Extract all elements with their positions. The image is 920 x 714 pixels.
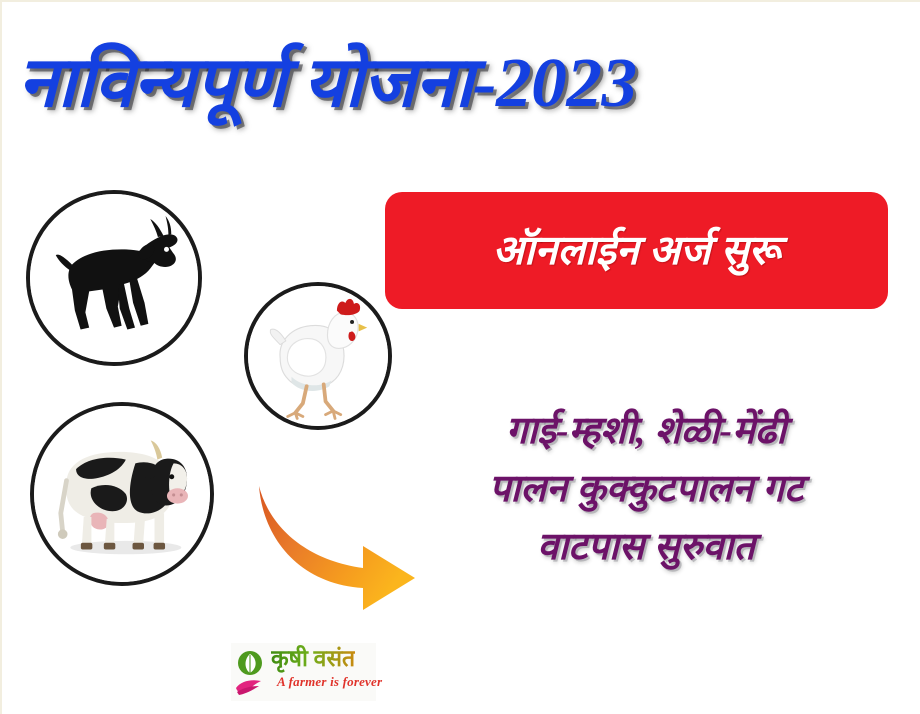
scheme-description-line-2: पालन कुक्कुटपालन गट xyxy=(388,460,904,518)
page-title: नाविन्यपूर्ण योजना-2023 xyxy=(18,36,920,132)
scheme-description-line-1: गाई-म्हशी, शेळी-मेंढी xyxy=(388,402,904,460)
brand-logo: कृषी वसंत A farmer is forever xyxy=(231,643,376,701)
scheme-description-line-3: वाटपास सुरुवात xyxy=(388,518,904,576)
brand-logo-tagline: A farmer is forever xyxy=(277,674,382,690)
cow-illustration-icon xyxy=(34,406,210,582)
leaf-in-hand-icon xyxy=(235,648,269,696)
banner-label: ऑनलाईन अर्ज सुरू xyxy=(493,230,781,271)
poster-canvas: नाविन्यपूर्ण योजना-2023 xyxy=(0,0,920,714)
animal-circle-chicken xyxy=(244,282,392,430)
brand-logo-name: कृषी वसंत xyxy=(271,645,355,673)
animal-circle-goat xyxy=(26,190,202,366)
brand-logo-inner: कृषी वसंत A farmer is forever xyxy=(231,643,376,701)
goat-silhouette-icon xyxy=(30,194,198,362)
scheme-description: गाई-म्हशी, शेळी-मेंढी पालन कुक्कुटपालन ग… xyxy=(388,402,904,576)
chicken-photo-icon xyxy=(248,286,388,426)
animal-circle-cow xyxy=(30,402,214,586)
online-application-banner[interactable]: ऑनलाईन अर्ज सुरू xyxy=(385,192,888,309)
